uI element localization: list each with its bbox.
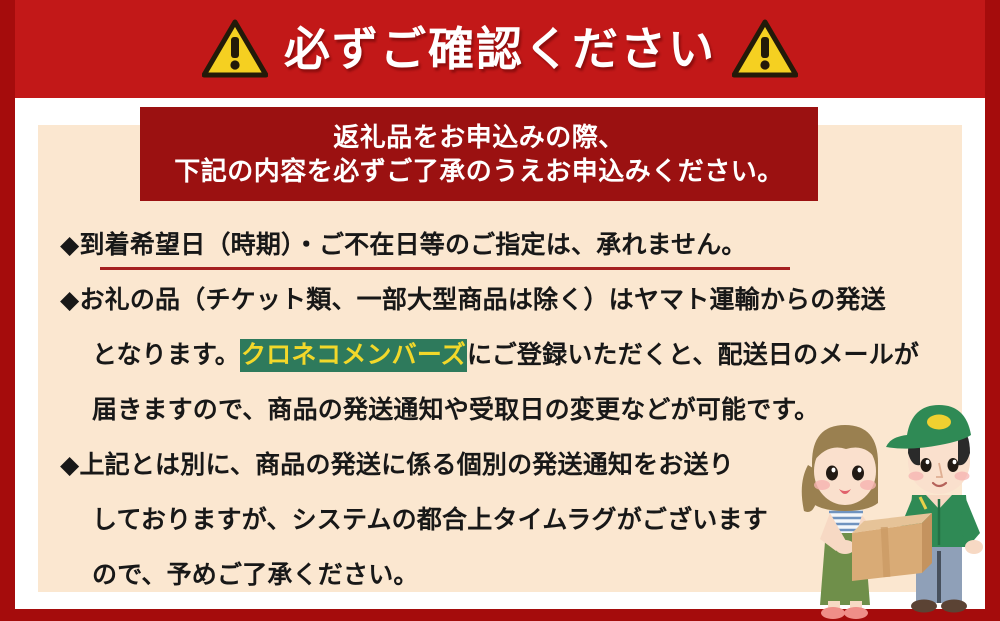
- notes-list: ◆到着希望日（時期）・ご不在日等のご指定は、承れません。 ◆お礼の品（チケット類…: [60, 218, 880, 603]
- bullet-mark: ◆: [60, 451, 79, 479]
- note-item-1: ◆到着希望日（時期）・ご不在日等のご指定は、承れません。: [60, 218, 880, 273]
- sub-banner: 返礼品をお申込みの際、 下記の内容を必ずご了承のうえお申込みください。: [140, 107, 818, 201]
- note-item-3-line-2: しておりますが、システムの都合上タイムラグがございます: [60, 493, 880, 548]
- header-band: 必ずご確認ください: [0, 0, 1000, 98]
- bullet-mark: ◆: [60, 231, 79, 259]
- note-item-3-line-1: ◆上記とは別に、商品の発送に係る個別の発送通知をお送り: [60, 438, 880, 493]
- note-item-1-underline: [100, 267, 790, 270]
- sub-banner-line-1: 返礼品をお申込みの際、: [333, 121, 625, 154]
- page-title: 必ずご確認ください: [284, 26, 716, 72]
- note-item-2-line-3: 届きますので、商品の発送通知や受取日の変更などが可能です。: [60, 383, 880, 438]
- note-item-2-line-2: となります。クロネコメンバーズにご登録いただくと、配送日のメールが: [60, 328, 880, 383]
- note-item-1-text: 到着希望日（時期）・ご不在日等のご指定は、承れません。: [79, 231, 746, 259]
- kuroneko-members-highlight[interactable]: クロネコメンバーズ: [240, 339, 467, 372]
- note-item-2-text-after: にご登録いただくと、配送日のメールが: [467, 341, 919, 369]
- note-item-3-line-3: ので、予めご了承ください。: [60, 548, 880, 603]
- frame-border-left: [0, 0, 15, 621]
- note-item-3-text-line-1: 上記とは別に、商品の発送に係る個別の発送通知をお送り: [79, 451, 733, 479]
- delivery-handover-illustration: [790, 391, 1000, 621]
- warning-triangle-icon: [202, 19, 268, 79]
- note-item-2-text-line-3: 届きますので、商品の発送通知や受取日の変更などが可能です。: [92, 396, 819, 424]
- note-item-3-text-line-2: しておりますが、システムの都合上タイムラグがございます: [92, 506, 768, 534]
- parcel-box: [852, 513, 932, 581]
- warning-triangle-icon: [732, 19, 798, 79]
- note-item-2-line-1: ◆お礼の品（チケット類、一部大型商品は除く）はヤマト運輸からの発送: [60, 273, 880, 328]
- note-item-3-text-line-3: ので、予めご了承ください。: [92, 561, 419, 589]
- sub-banner-line-2: 下記の内容を必ずご了承のうえお申込みください。: [174, 155, 784, 188]
- note-item-2-text-before: となります。: [92, 341, 240, 369]
- bullet-mark: ◆: [60, 286, 79, 314]
- notice-page: 必ずご確認ください 返礼品をお申込みの際、 下記の内容を必ずご了承のうえお申込み…: [0, 0, 1000, 621]
- delivery-man-figure: [886, 405, 983, 613]
- note-item-2-text-line-1: お礼の品（チケット類、一部大型商品は除く）はヤマト運輸からの発送: [79, 286, 885, 314]
